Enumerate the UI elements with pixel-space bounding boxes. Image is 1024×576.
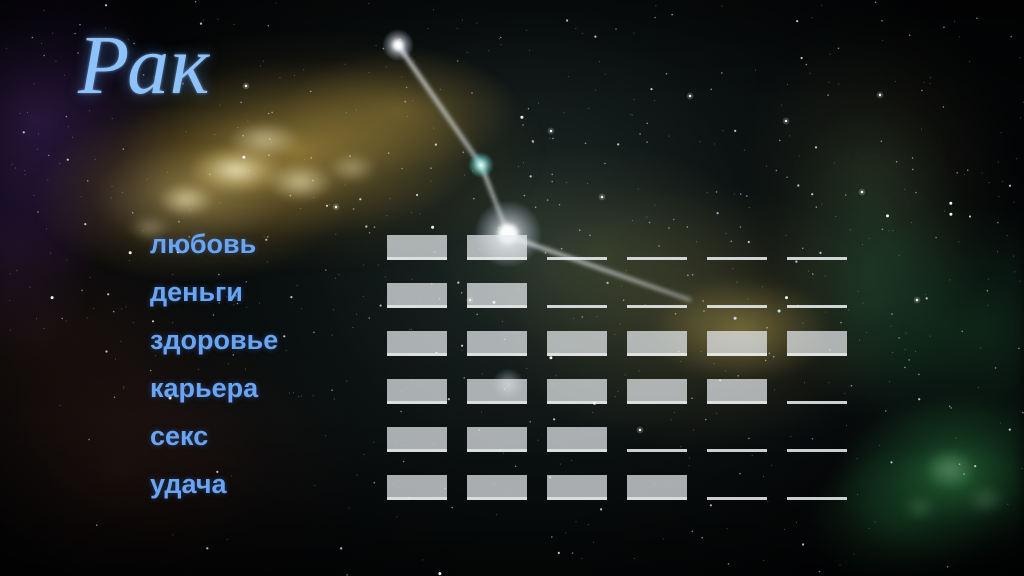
rating-cell-filled [387,475,447,500]
rating-cell-empty [707,235,767,260]
rating-cell-filled [467,475,527,500]
rating-cell-baseline [547,497,607,500]
rating-row-label: деньги [150,273,330,311]
rating-cell-baseline [707,305,767,308]
rating-row-cells [387,235,847,267]
rating-cell-baseline [787,305,847,308]
rating-row-cells [387,283,847,315]
rating-cell-filled [547,427,607,452]
rating-cell-baseline [467,257,527,260]
rating-cell-filled [387,427,447,452]
rating-cell-empty [627,427,687,452]
rating-cell-bar [387,475,447,497]
rating-cell-filled [547,331,607,356]
rating-cell-bar [467,379,527,401]
rating-cell-empty [787,427,847,452]
rating-cell-baseline [787,257,847,260]
rating-cell-empty [707,475,767,500]
rating-row: секс [150,417,850,465]
rating-cell-bar [547,379,607,401]
rating-cell-baseline [787,449,847,452]
rating-cell-bar [467,427,527,449]
rating-cell-filled [467,283,527,308]
rating-cell-baseline [787,497,847,500]
rating-cell-baseline [547,305,607,308]
rating-cell-filled [387,331,447,356]
rating-cell-baseline [467,401,527,404]
rating-cell-bar [707,331,767,353]
rating-row-cells [387,427,847,459]
rating-cell-bar [627,331,687,353]
rating-row-label: любовь [150,225,330,263]
rating-cell-bar [467,283,527,305]
rating-cell-empty [627,235,687,260]
rating-cell-filled [627,379,687,404]
rating-row-label: здоровье [150,321,330,359]
rating-cell-baseline [787,353,847,356]
rating-cell-bar [467,331,527,353]
rating-cell-baseline [707,257,767,260]
rating-cell-baseline [707,449,767,452]
rating-row-label: секс [150,417,330,455]
rating-cell-filled [707,331,767,356]
rating-cell-baseline [627,257,687,260]
rating-cell-baseline [627,449,687,452]
rating-cell-filled [707,379,767,404]
rating-cell-filled [467,379,527,404]
rating-cell-empty [787,235,847,260]
rating-cell-filled [547,379,607,404]
rating-cell-filled [387,235,447,260]
rating-cell-baseline [707,353,767,356]
rating-cell-bar [387,283,447,305]
rating-cell-baseline [467,353,527,356]
rating-cell-empty [787,475,847,500]
rating-row-cells [387,379,847,411]
rating-cell-baseline [467,449,527,452]
rating-row: деньги [150,273,850,321]
rating-cell-filled [787,331,847,356]
rating-row-cells [387,331,847,363]
rating-cell-bar [707,379,767,401]
rating-cell-baseline [467,305,527,308]
rating-cell-bar [467,475,527,497]
rating-cell-filled [387,379,447,404]
rating-cell-bar [627,475,687,497]
rating-cell-baseline [707,497,767,500]
rating-cell-baseline [627,353,687,356]
horoscope-rating-chart: любовьденьгиздоровьекарьерасексудача [150,225,850,513]
rating-cell-baseline [547,401,607,404]
rating-row: удача [150,465,850,513]
rating-row: здоровье [150,321,850,369]
rating-cell-bar [787,331,847,353]
rating-cell-bar [387,331,447,353]
rating-cell-filled [467,331,527,356]
rating-cell-bar [387,427,447,449]
rating-row-label: карьера [150,369,330,407]
rating-cell-empty [787,283,847,308]
rating-cell-bar [387,379,447,401]
rating-cell-empty [707,427,767,452]
rating-cell-baseline [787,401,847,404]
rating-cell-baseline [627,305,687,308]
rating-cell-baseline [387,257,447,260]
rating-cell-empty [787,379,847,404]
rating-cell-baseline [387,353,447,356]
rating-cell-filled [627,475,687,500]
rating-row: карьера [150,369,850,417]
rating-cell-baseline [387,305,447,308]
rating-cell-baseline [467,497,527,500]
rating-cell-empty [547,235,607,260]
rating-cell-baseline [627,401,687,404]
horoscope-slide: Рак любовьденьгиздоровьекарьерасексудача [0,0,1024,576]
rating-cell-baseline [387,497,447,500]
rating-cell-baseline [387,401,447,404]
rating-row-label: удача [150,465,330,503]
rating-cell-filled [387,283,447,308]
rating-row: любовь [150,225,850,273]
rating-cell-bar [547,331,607,353]
rating-cell-empty [707,283,767,308]
rating-cell-filled [467,427,527,452]
rating-cell-bar [627,379,687,401]
rating-cell-baseline [387,449,447,452]
rating-cell-bar [547,475,607,497]
rating-cell-empty [547,283,607,308]
rating-cell-baseline [547,353,607,356]
rating-cell-bar [467,235,527,257]
rating-cell-baseline [547,257,607,260]
rating-cell-filled [627,331,687,356]
rating-cell-empty [627,283,687,308]
rating-cell-filled [467,235,527,260]
rating-cell-baseline [707,401,767,404]
page-title: Рак [78,24,210,108]
rating-cell-baseline [627,497,687,500]
rating-cell-baseline [547,449,607,452]
rating-cell-bar [547,427,607,449]
rating-cell-filled [547,475,607,500]
rating-cell-bar [387,235,447,257]
rating-row-cells [387,475,847,507]
